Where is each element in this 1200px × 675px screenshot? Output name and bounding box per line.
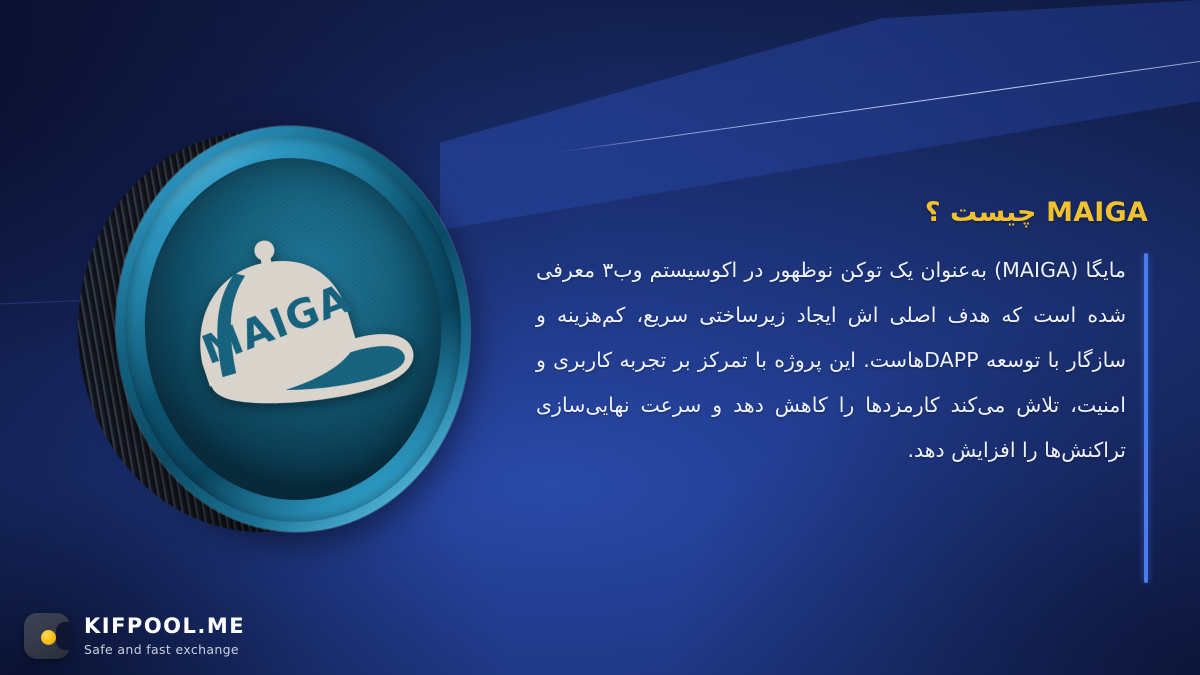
coin-bevel-groove: MAIGA bbox=[112, 125, 474, 533]
wallet-icon bbox=[24, 613, 70, 659]
baseball-cap-icon: MAIGA bbox=[154, 213, 432, 446]
brand-lockup[interactable]: KIFPOOL.ME Safe and fast exchange bbox=[24, 613, 245, 659]
brand-text: KIFPOOL.ME Safe and fast exchange bbox=[84, 616, 245, 657]
slide-canvas: MAIGA MAIGA چیست ؟ مایگا (MAIGA) به‌عنوا… bbox=[0, 0, 1200, 675]
article-content: MAIGA چیست ؟ مایگا (MAIGA) به‌عنوان یک ت… bbox=[536, 196, 1148, 473]
wallet-icon-coin bbox=[41, 630, 56, 645]
brand-tagline: Safe and fast exchange bbox=[84, 644, 245, 657]
body-paragraph: مایگا (MAIGA) به‌عنوان یک توکن نوظهور در… bbox=[536, 248, 1126, 473]
svg-text:MAIGA: MAIGA bbox=[196, 276, 357, 374]
page-title: MAIGA چیست ؟ bbox=[536, 196, 1148, 230]
brand-name: KIFPOOL.ME bbox=[84, 616, 245, 637]
accent-bar bbox=[1144, 253, 1148, 583]
body-block: مایگا (MAIGA) به‌عنوان یک توکن نوظهور در… bbox=[536, 248, 1148, 473]
wallet-icon-notch bbox=[56, 622, 71, 650]
maiga-coin-graphic: MAIGA bbox=[78, 126, 470, 538]
coin-outer-ring: MAIGA bbox=[102, 114, 483, 544]
coin-face: MAIGA bbox=[133, 148, 452, 510]
